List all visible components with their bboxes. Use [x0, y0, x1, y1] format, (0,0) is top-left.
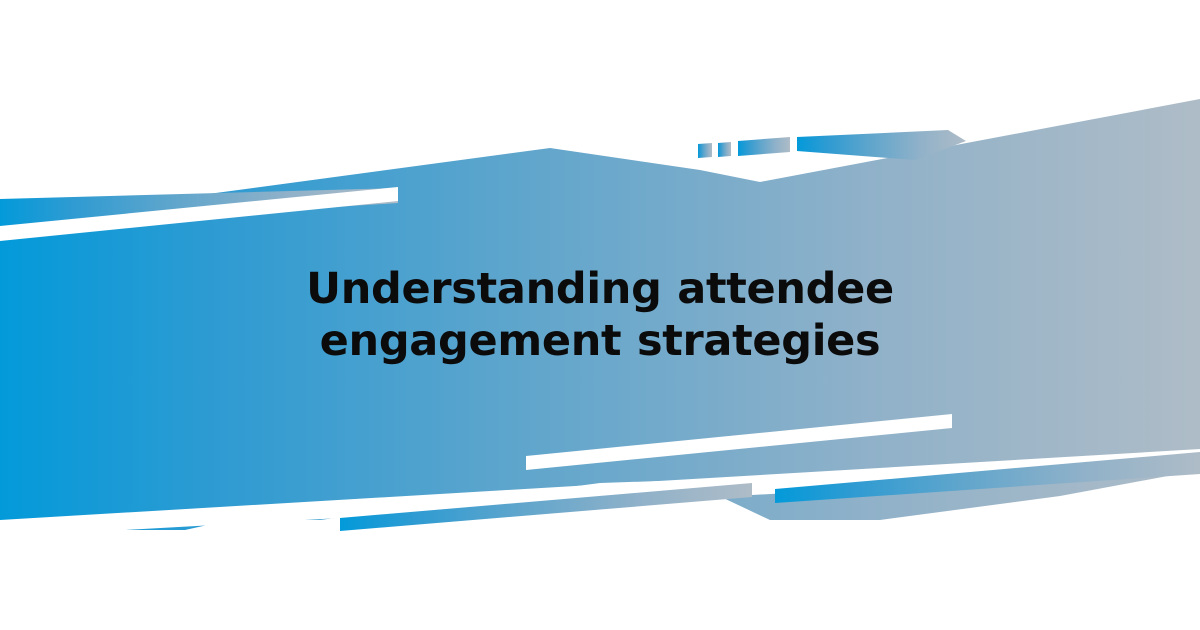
top-right-dash-small-2 [718, 142, 731, 157]
top-right-dash-small-1 [698, 143, 712, 158]
top-right-dash-medium [738, 137, 790, 156]
decorative-banner-graphic [0, 0, 1200, 630]
banner-card: Understanding attendee engagement strate… [0, 0, 1200, 630]
main-angled-panel [0, 0, 1200, 630]
